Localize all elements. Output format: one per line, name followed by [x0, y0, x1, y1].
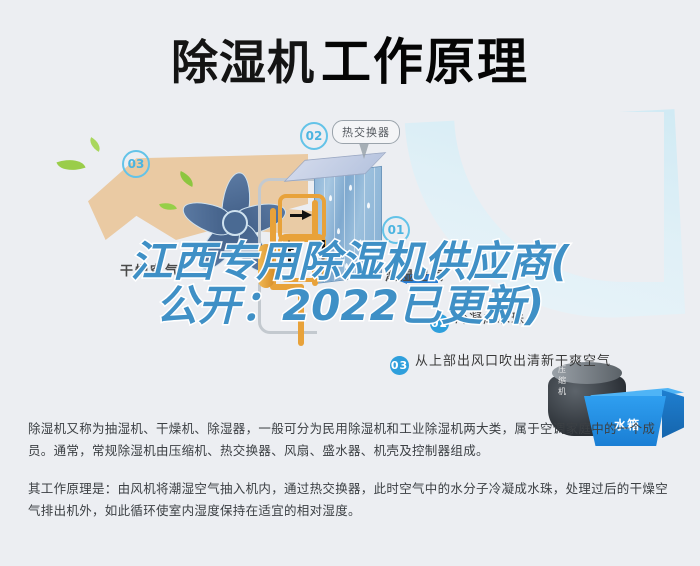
humid-air-label: 潮湿空气 — [385, 265, 445, 284]
flow-arrow-right — [302, 210, 312, 220]
step-badge-filled-02: 02 — [430, 314, 449, 333]
body-paragraph-2: 其工作原理是：由风机将潮湿空气抽入机内，通过热交换器，此时空气中的水分子冷凝成水… — [28, 478, 676, 522]
step-badge-01: 01 — [382, 216, 410, 244]
infographic-page: 除湿机工作原理 — [0, 0, 700, 566]
body-copy: 除湿机又称为抽湿机、干燥机、除湿器，一般可分为民用除湿机和工业除湿机两大类，属于… — [28, 418, 676, 522]
step-badge-03: 03 — [122, 150, 150, 178]
principle-diagram: 压缩机 水箱 03 02 01 热交换器 干燥空气 潮湿空气 02冷凝成水珠 0 — [0, 112, 700, 397]
step-badge-02: 02 — [300, 122, 328, 150]
heat-exchanger-callout: 热交换器 — [332, 120, 400, 144]
annotation-step-02-text: 冷凝成水珠 — [455, 311, 525, 326]
receiver-bottle — [258, 244, 274, 288]
flow-arrow-tail — [322, 240, 325, 252]
refrigerant-pipe — [312, 200, 318, 286]
flow-arrow-tail — [290, 214, 302, 217]
page-title: 除湿机工作原理 — [0, 22, 700, 94]
fan-hub — [222, 210, 248, 236]
title-part-one: 除湿机 — [171, 36, 315, 91]
flow-arrow-tail — [288, 250, 291, 262]
annotation-step-03: 03从上部出风口吹出清新干爽空气 — [390, 350, 611, 375]
refrigerant-pipe — [298, 284, 304, 346]
annotation-step-03-text: 从上部出风口吹出清新干爽空气 — [415, 353, 611, 368]
dry-air-label: 干燥空气 — [120, 260, 180, 279]
title-part-two: 工作原理 — [321, 33, 529, 91]
flow-arrow-down — [318, 252, 328, 262]
leaf-icon — [87, 137, 104, 152]
leaf-icon — [56, 154, 85, 175]
flow-arrow-up — [284, 240, 294, 250]
step-badge-filled-03: 03 — [390, 356, 409, 375]
annotation-step-02: 02冷凝成水珠 — [430, 308, 525, 333]
body-paragraph-1: 除湿机又称为抽湿机、干燥机、除湿器，一般可分为民用除湿机和工业除湿机两大类，属于… — [28, 418, 676, 462]
